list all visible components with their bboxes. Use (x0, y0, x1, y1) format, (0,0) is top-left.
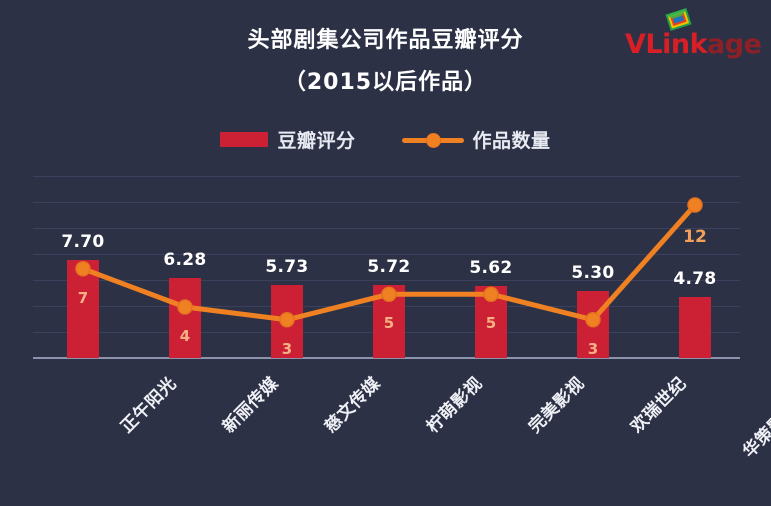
x-axis-label-3: 慈文传媒 (318, 370, 385, 437)
x-axis-label-2: 新丽传媒 (216, 370, 283, 437)
bar-value-label-6: 5.30 (548, 263, 638, 283)
line-value-label-2: 4 (167, 327, 203, 345)
legend-swatch-line-icon (402, 133, 464, 147)
line-value-label-3: 3 (269, 340, 305, 358)
legend-item-count[interactable]: 作品数量 (402, 126, 551, 153)
bar-1[interactable] (67, 260, 99, 358)
bar-value-label-2: 6.28 (140, 250, 230, 270)
gridline (33, 228, 740, 229)
bar-value-label-1: 7.70 (38, 232, 128, 252)
line-value-label-4: 5 (371, 314, 407, 332)
line-value-label-5: 5 (473, 314, 509, 332)
x-axis-label-7: 华策影视集团 (736, 370, 771, 462)
line-value-label-7: 12 (677, 227, 713, 247)
x-axis-label-5: 完美影视 (522, 370, 589, 437)
legend-label-rating: 豆瓣评分 (277, 126, 355, 153)
chart-legend: 豆瓣评分 作品数量 (0, 126, 771, 153)
gridline (33, 202, 740, 203)
chart-title: 头部剧集公司作品豆瓣评分 (0, 22, 771, 54)
x-axis-label-1: 正午阳光 (114, 370, 181, 437)
line-value-label-6: 3 (575, 340, 611, 358)
gridline (33, 176, 740, 177)
chart-subtitle: （2015以后作品） (0, 64, 771, 96)
legend-label-count: 作品数量 (473, 126, 551, 153)
bar-2[interactable] (169, 278, 201, 358)
bar-7[interactable] (679, 297, 711, 358)
bar-value-label-5: 5.62 (446, 258, 536, 278)
line-value-label-1: 7 (65, 289, 101, 307)
bar-value-label-4: 5.72 (344, 257, 434, 277)
x-axis-label-4: 柠萌影视 (420, 370, 487, 437)
legend-item-rating[interactable]: 豆瓣评分 (220, 126, 355, 153)
x-axis-label-6: 欢瑞世纪 (624, 370, 691, 437)
legend-swatch-bar-icon (220, 132, 268, 147)
chart-canvas: VLinkage 头部剧集公司作品豆瓣评分 （2015以后作品） 豆瓣评分 作品… (0, 0, 771, 506)
bar-value-label-3: 5.73 (242, 257, 332, 277)
bar-value-label-7: 4.78 (650, 269, 740, 289)
